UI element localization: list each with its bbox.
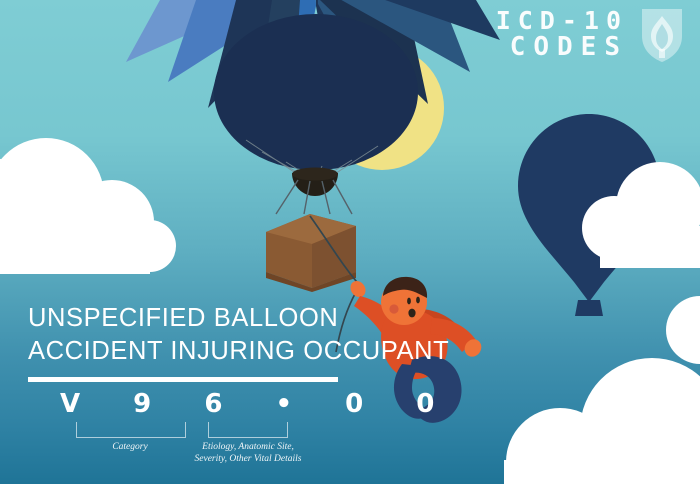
- code-bracket-group: Category Etiology, Anatomic Site, Severi…: [28, 422, 508, 440]
- headline-divider-rule: [28, 377, 338, 382]
- icd-code-value: V 9 6 • 0 0: [28, 389, 508, 419]
- cloud-bottom-right: [504, 358, 700, 484]
- cloud-bottom-edge: [666, 296, 700, 364]
- headline-block: UNSPECIFIED BALLOON ACCIDENT INJURING OC…: [28, 302, 508, 440]
- detail-caption-line-2: Severity, Other Vital Details: [168, 453, 328, 465]
- cloud-left: [0, 138, 176, 274]
- shield-flame-icon: [640, 6, 684, 64]
- poster-canvas: ICD-10 CODES UNSPECIFIED BALLOON ACCIDEN…: [0, 0, 700, 484]
- brand-logo: ICD-10 CODES: [489, 6, 684, 64]
- cloud-right-mid: [582, 162, 700, 268]
- headline-line-1: UNSPECIFIED BALLOON: [28, 302, 508, 335]
- brand-logo-line-1: ICD-10: [489, 8, 628, 35]
- category-bracket: [76, 422, 186, 438]
- detail-caption-line-1: Etiology, Anatomic Site,: [168, 441, 328, 453]
- headline-line-2: ACCIDENT INJURING OCCUPANT: [28, 335, 508, 368]
- brand-logo-text: ICD-10 CODES: [489, 8, 628, 62]
- detail-bracket: [208, 422, 288, 438]
- brand-logo-line-2: CODES: [502, 34, 628, 62]
- detail-caption: Etiology, Anatomic Site, Severity, Other…: [168, 441, 328, 465]
